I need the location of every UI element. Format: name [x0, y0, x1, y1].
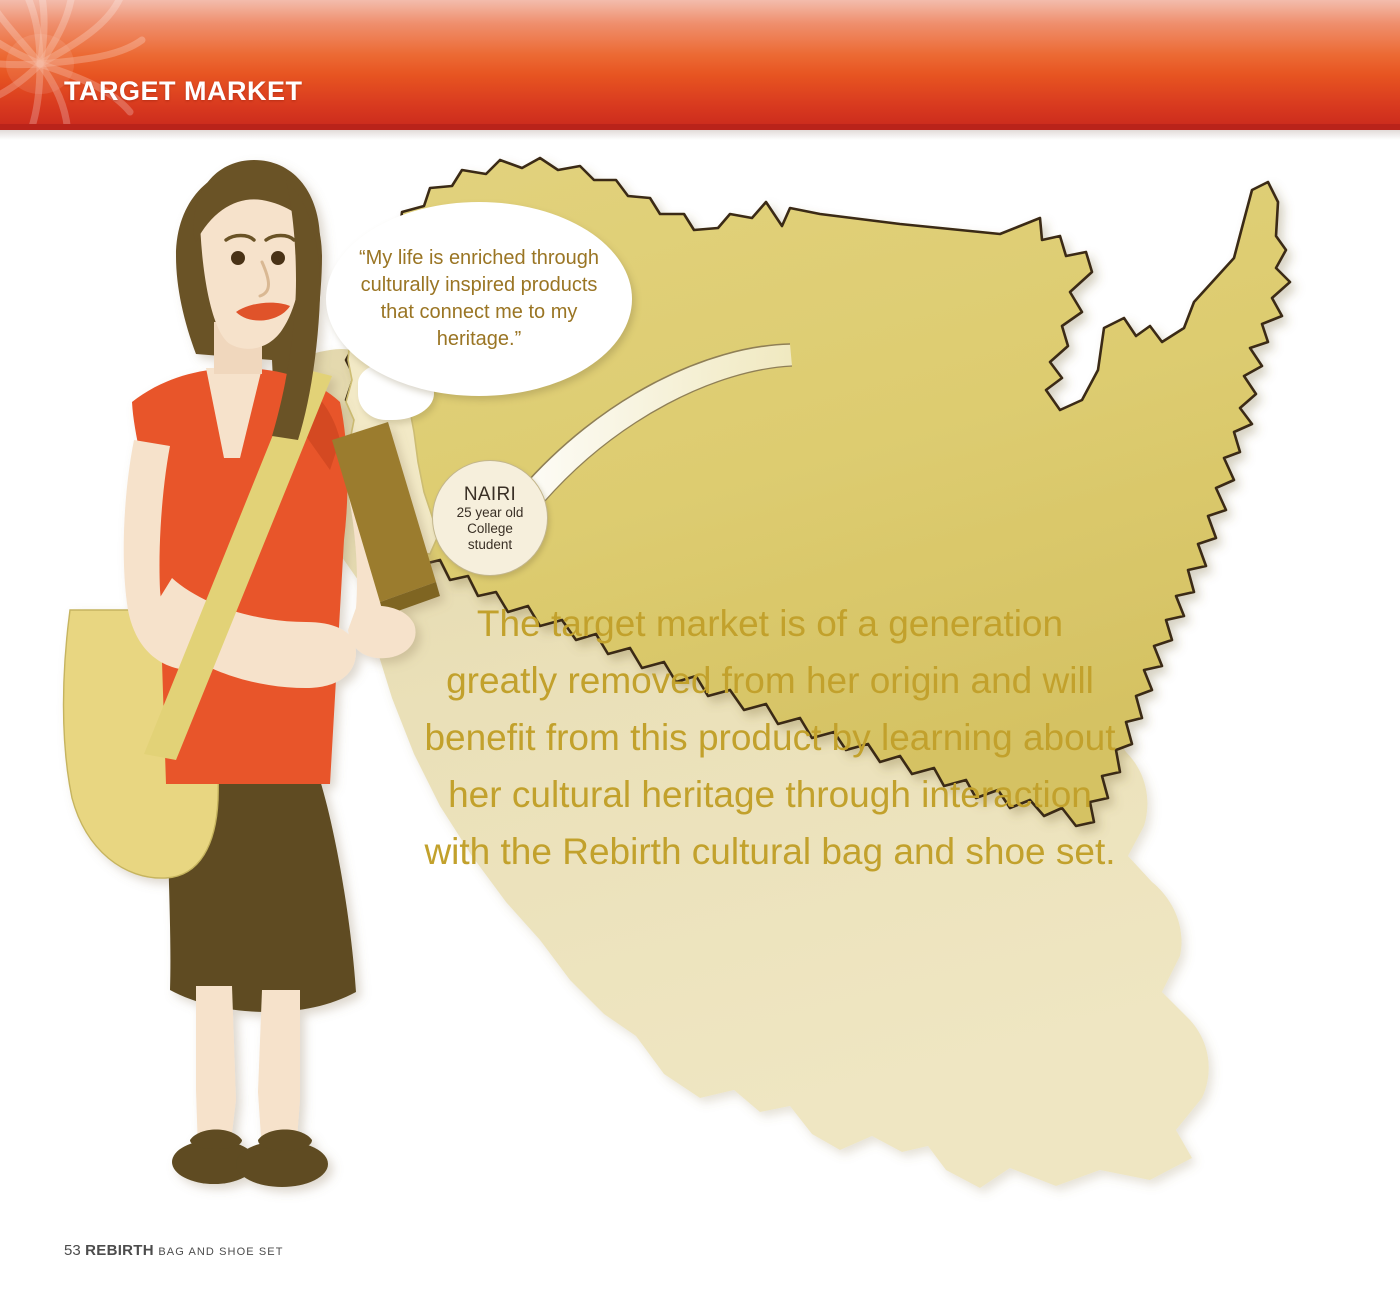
migration-arc: [0, 140, 1400, 1313]
page-title: TARGET MARKET: [64, 76, 302, 107]
persona-role-line-2: student: [468, 537, 512, 553]
infographic-stage: “My life is enriched through culturally …: [0, 140, 1400, 1313]
persona-role-line-1: College: [467, 521, 513, 537]
header-banner: TARGET MARKET: [0, 0, 1400, 130]
chrysanthemum-icon: [0, 0, 164, 130]
persona-callout[interactable]: NAIRI 25 year old College student: [432, 460, 548, 576]
footer: 53 REBIRTH BAG AND SHOE SET: [64, 1242, 284, 1260]
persona-name: NAIRI: [464, 484, 516, 505]
persona-quote-bubble: “My life is enriched through culturally …: [326, 202, 632, 396]
footer-subtitle: BAG AND SHOE SET: [158, 1246, 283, 1258]
footer-page-number: 53: [64, 1242, 81, 1259]
banner-shadow: [0, 130, 1400, 140]
persona-quote-text: “My life is enriched through culturally …: [345, 245, 613, 353]
persona-age: 25 year old: [457, 505, 524, 521]
footer-brand: REBIRTH: [85, 1242, 154, 1259]
